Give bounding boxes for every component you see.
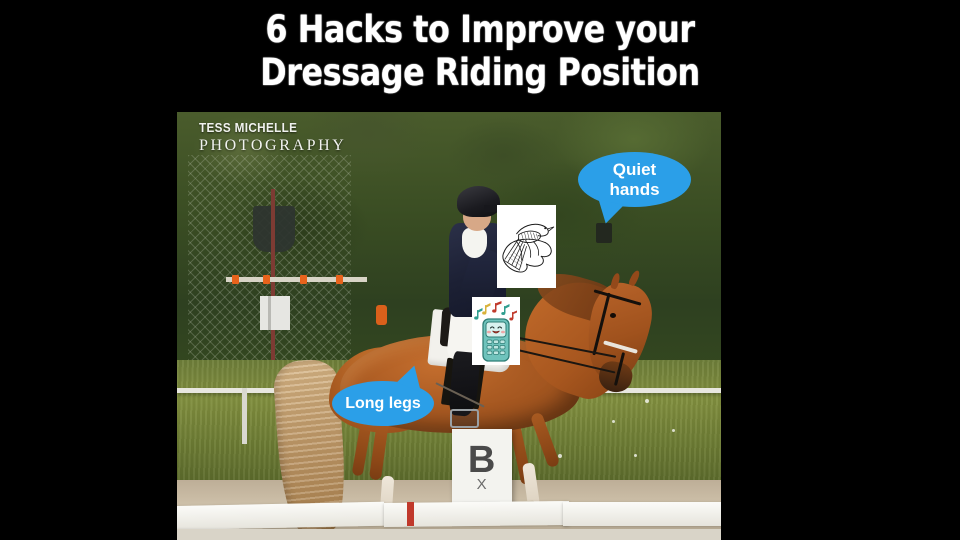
watermark-name: TESS MICHELLE bbox=[199, 120, 332, 135]
riding-helmet bbox=[457, 186, 501, 218]
callout-long-legs-label: Long legs bbox=[345, 395, 421, 413]
arena-board-red-stripe bbox=[407, 502, 414, 526]
callout-quiet-hands: Quiethands bbox=[578, 152, 691, 207]
page-title: 6 Hacks to Improve your Dressage Riding … bbox=[0, 8, 960, 94]
title-line-2: Dressage Riding Position bbox=[67, 51, 893, 94]
title-line-1: 6 Hacks to Improve your bbox=[67, 8, 893, 51]
horse-ear bbox=[628, 270, 641, 287]
marker-sub-letter: X bbox=[477, 477, 487, 492]
arena-board bbox=[563, 502, 721, 526]
marker-board: B X bbox=[452, 429, 512, 506]
callout-quiet-hands-label: Quiethands bbox=[609, 160, 659, 200]
arena-board bbox=[177, 501, 384, 529]
watermark-subtitle: PHOTOGRAPHY bbox=[199, 137, 346, 155]
bird-in-hand-illustration-icon bbox=[497, 205, 556, 288]
photograph: B X TESS MICHELLE PHOTOGRAPHY bbox=[177, 112, 721, 540]
photographer-watermark: TESS MICHELLE PHOTOGRAPHY bbox=[199, 120, 346, 155]
arena-board-lower bbox=[177, 529, 721, 540]
marker-letter: B bbox=[468, 443, 495, 477]
singing-phone-illustration-icon bbox=[472, 297, 520, 365]
rider-stock-tie bbox=[462, 228, 486, 258]
stirrup bbox=[450, 409, 478, 428]
callout-long-legs: Long legs bbox=[332, 381, 434, 426]
slide-canvas: 6 Hacks to Improve your Dressage Riding … bbox=[0, 0, 960, 540]
